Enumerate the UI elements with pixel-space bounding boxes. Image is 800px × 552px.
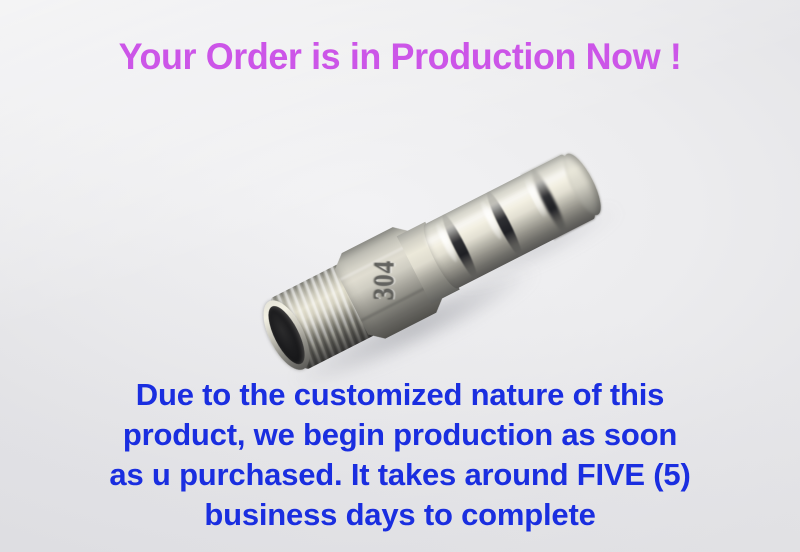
notice-body-text: Due to the customized nature of this pro… (0, 375, 800, 535)
body-line: product, we begin production as soon (0, 415, 800, 455)
product-image: 304 (232, 150, 632, 385)
body-line: as u purchased. It takes around FIVE (5) (0, 455, 800, 495)
body-line: business days to complete (0, 495, 800, 535)
material-stamp: 304 (369, 260, 402, 301)
body-line: Due to the customized nature of this (0, 375, 800, 415)
notice-canvas: Your Order is in Production Now ! 304 (0, 0, 800, 552)
page-title: Your Order is in Production Now ! (12, 36, 788, 78)
